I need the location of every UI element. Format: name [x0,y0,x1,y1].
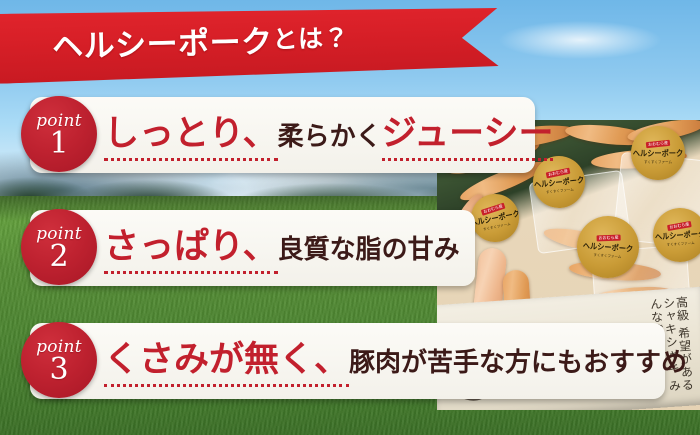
promo-banner-image: ヘルシーポークとは？ おおむら産 ヘルシーポーク すくすくファーム おおむら産 … [0,0,700,435]
banner-title: ヘルシーポークとは？ [21,0,453,79]
package-label-sub: すくすくファーム [593,253,621,260]
package-label-brand: ヘルシーポーク [582,240,633,254]
package-label: おおむら産 ヘルシーポーク すくすくファーム [631,126,685,180]
banner-title-tail: とは？ [272,18,349,56]
point-text-segment: さっぱり、 [104,225,278,274]
point-badge-2: point 2 [21,209,97,285]
package-label-tagline: おおむら産 [646,140,670,148]
point-badge-number: 1 [49,129,68,159]
point-text-segment: ジューシー [382,112,554,161]
point-badge-number: 2 [49,242,68,272]
point-text-segment: しっとり、 [104,112,278,161]
point-text-segment: 豚肉が苦手な方にもおすすめ [349,341,687,385]
point-text-2: さっぱり、 良質な脂の甘み [104,225,460,274]
package-label-sub: すくすくファーム [667,241,695,248]
package-label-sub: すくすくファーム [644,160,672,165]
point-badge-1: point 1 [21,96,97,172]
point-text-segment: 柔らかく [278,115,382,159]
point-text-segment: くさみが無く、 [104,338,349,387]
point-text-1: しっとり、 柔らかく ジューシー [104,112,553,161]
point-badge-number: 3 [49,355,68,385]
point-badge-3: point 3 [21,322,97,398]
package-label-brand: ヘルシーポーク [633,148,683,159]
point-text-segment: 良質な脂の甘み [278,228,460,272]
point-text-3: くさみが無く、 豚肉が苦手な方にもおすすめ [104,338,687,387]
banner-title-main: ヘルシーポーク [52,16,273,66]
package-label-tagline: おおむら産 [597,235,621,242]
